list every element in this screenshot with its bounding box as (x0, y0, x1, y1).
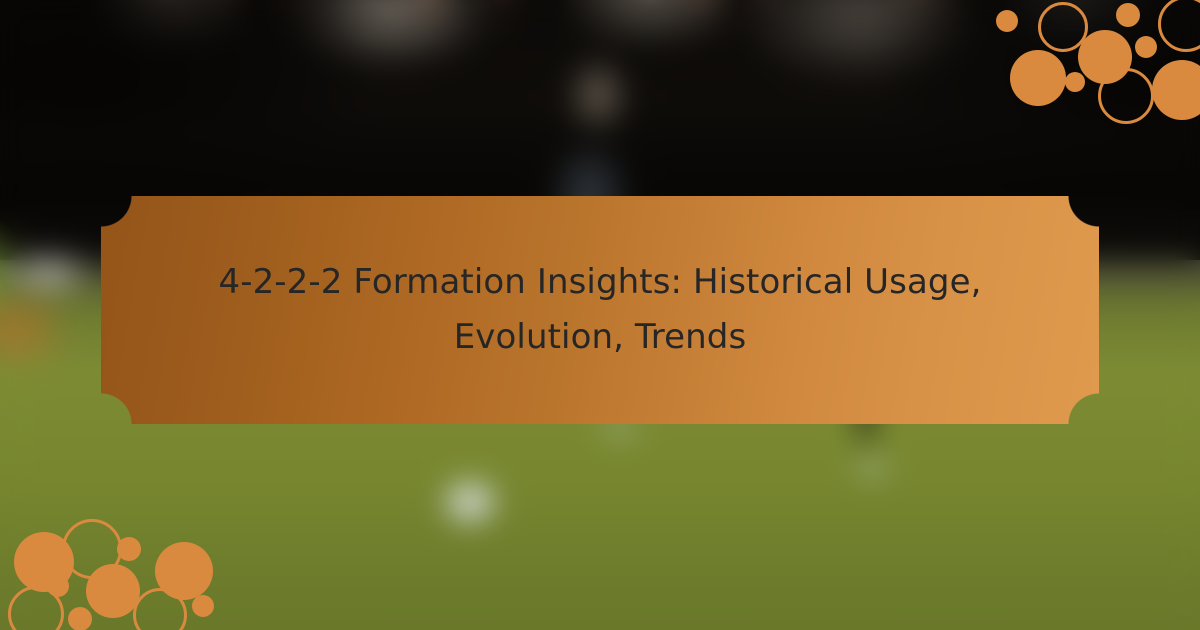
page-title: 4-2-2-2 Formation Insights: Historical U… (190, 255, 1010, 365)
title-card: 4-2-2-2 Formation Insights: Historical U… (101, 196, 1099, 424)
share-banner: 4-2-2-2 Formation Insights: Historical U… (0, 0, 1200, 630)
